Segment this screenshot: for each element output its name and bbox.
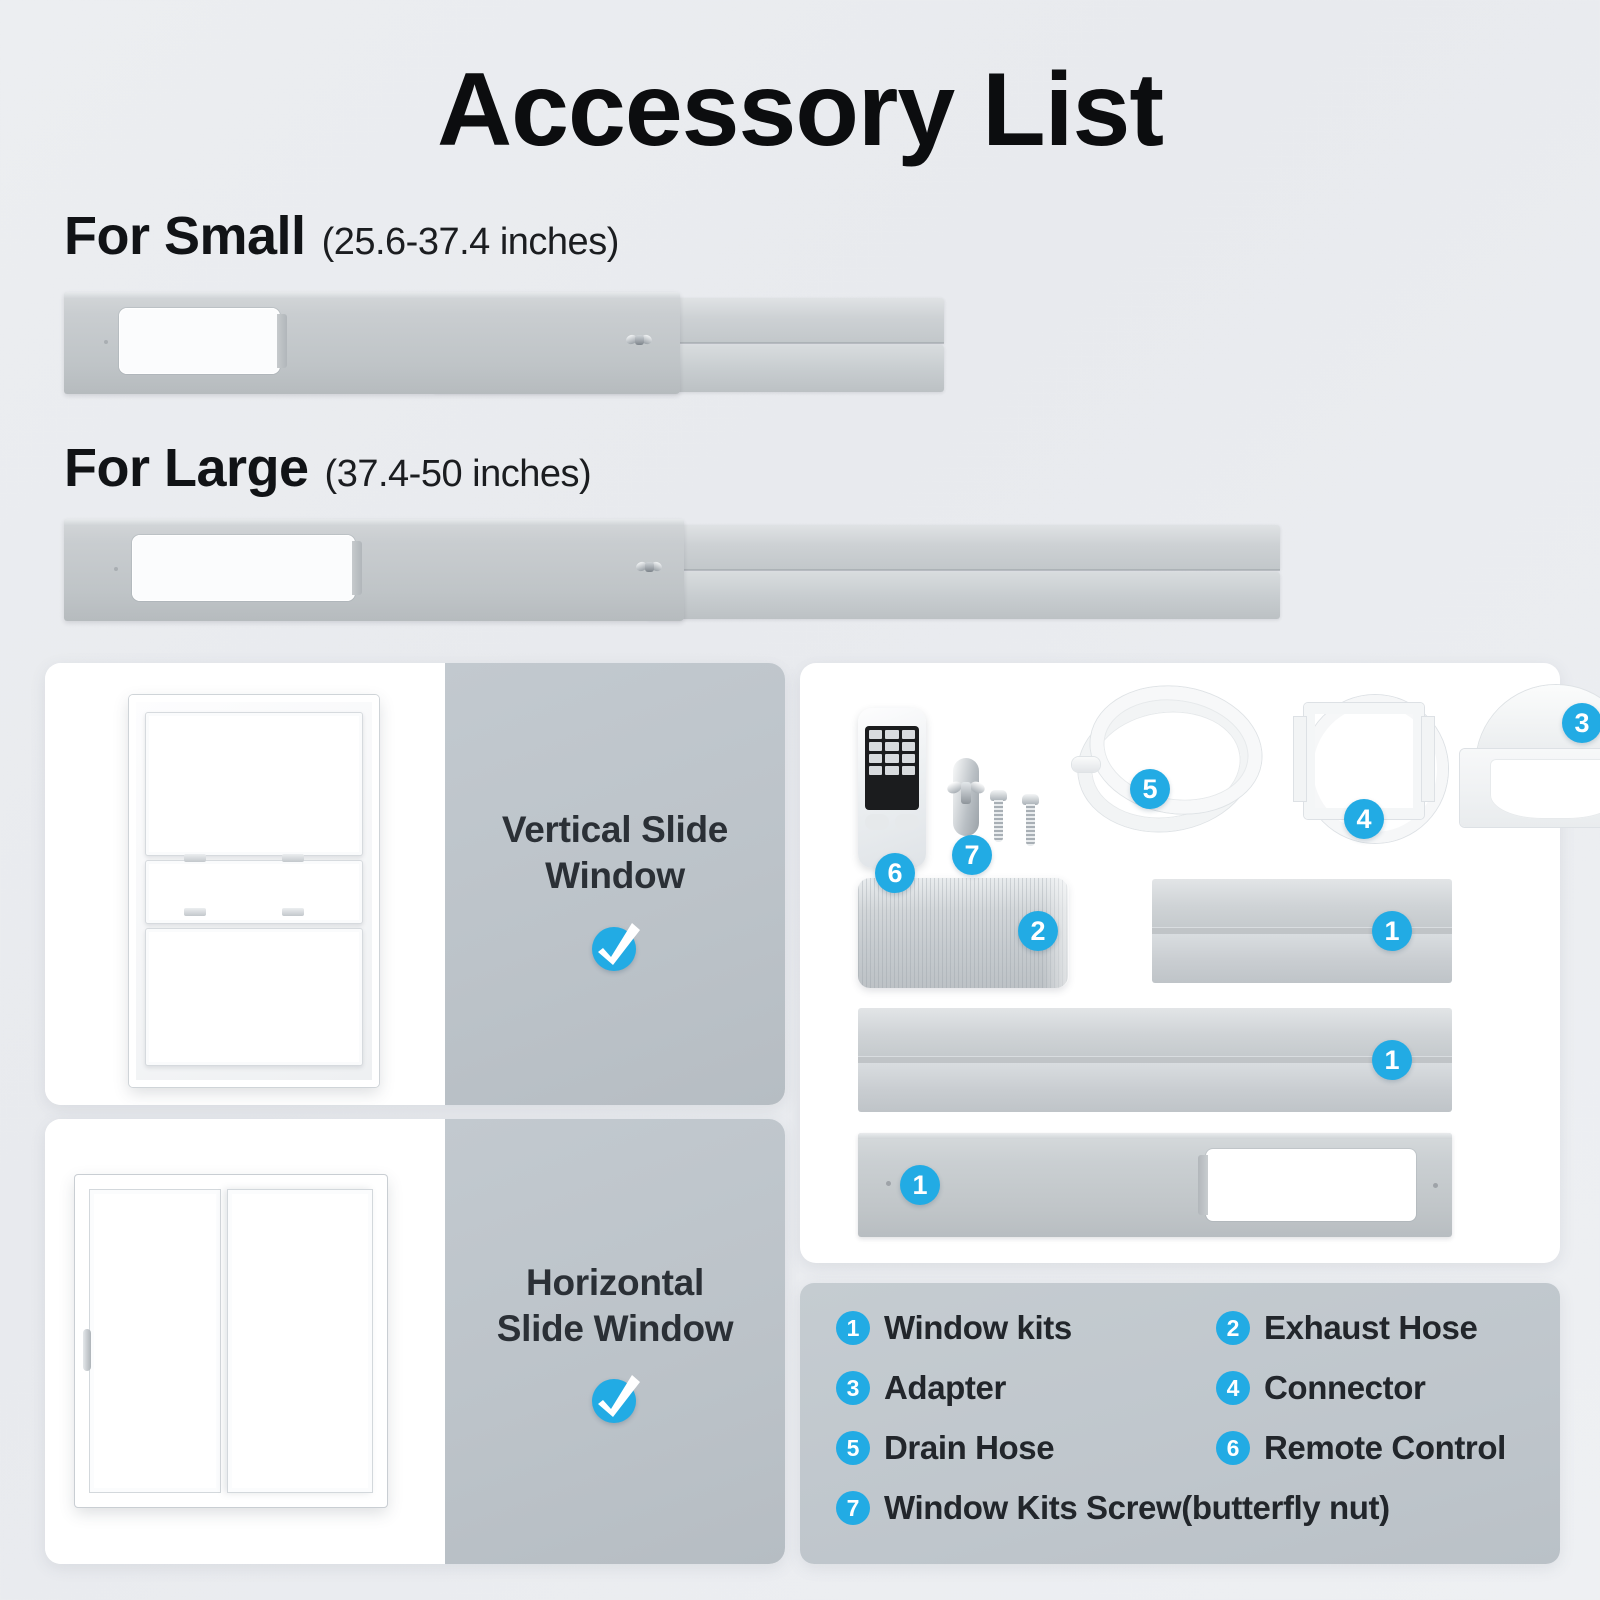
legend-badge: 4 (1216, 1371, 1250, 1405)
page-title: Accessory List (0, 56, 1600, 165)
window-lock-icon (282, 908, 304, 916)
kit-rail-lower (648, 572, 1280, 619)
callout-window-kits-screw: 7 (952, 835, 992, 875)
accessory-list-infographic: Accessory List For Small (25.6-37.4 inch… (0, 0, 1600, 1600)
butterfly-nut-icon (636, 557, 662, 579)
horizontal-window-label-panel: Horizontal Slide Window (445, 1119, 785, 1564)
kit-screw-dot (104, 340, 108, 344)
legend-item-adapter: 3 Adapter (800, 1369, 1180, 1407)
window-kit-bar-icon (858, 1008, 1452, 1112)
callout-exhaust-hose: 2 (1018, 911, 1058, 951)
section-label-small: For Small (64, 205, 306, 267)
window-pane-right (227, 1189, 373, 1493)
section-heading-large: For Large (37.4-50 inches) (64, 437, 591, 499)
caption-line-2: Window (545, 855, 685, 896)
kit-cutout (1206, 1149, 1416, 1221)
callout-window-kit-2: 1 (1372, 1040, 1412, 1080)
horizontal-window-icon (75, 1175, 387, 1507)
section-range-small: (25.6-37.4 inches) (322, 221, 619, 264)
section-label-large: For Large (64, 437, 309, 499)
window-sash-top (145, 712, 363, 856)
screw-icon (1022, 794, 1039, 846)
caption-line-1: Vertical Slide (502, 809, 728, 850)
vertical-window-icon (129, 695, 379, 1087)
window-kit-bar-cutout-icon (858, 1133, 1452, 1237)
vertical-window-illustration (45, 663, 445, 1105)
legend-row: 7 Window Kits Screw(butterfly nut) (800, 1489, 1560, 1527)
window-kit-bar-small (64, 292, 944, 394)
legend-item-window-kits: 1 Window kits (800, 1309, 1180, 1347)
callout-connector: 4 (1344, 799, 1384, 839)
card-horizontal-slide-window: Horizontal Slide Window (45, 1119, 785, 1564)
kit-front-panel (64, 519, 684, 621)
legend-label: Window kits (884, 1309, 1072, 1347)
kit-screw-dot (114, 567, 118, 571)
caption-line-1: Horizontal (526, 1262, 704, 1303)
window-sash-middle (145, 860, 363, 924)
check-icon (586, 1369, 644, 1423)
legend-badge: 3 (836, 1371, 870, 1405)
kit-front-panel (64, 292, 680, 394)
legend-row: 1 Window kits 2 Exhaust Hose (800, 1309, 1560, 1347)
window-lock-icon (184, 908, 206, 916)
kit-cutout (132, 535, 355, 601)
callout-drain-hose: 5 (1130, 769, 1170, 809)
callout-remote-control: 6 (875, 853, 915, 893)
callout-window-kit-1: 1 (1372, 911, 1412, 951)
legend-label: Connector (1264, 1369, 1425, 1407)
card-vertical-slide-window: Vertical Slide Window (45, 663, 785, 1105)
kit-rail-seam (648, 569, 1280, 571)
caption-line-2: Slide Window (497, 1308, 734, 1349)
legend-item-connector: 4 Connector (1180, 1369, 1560, 1407)
vertical-window-label-panel: Vertical Slide Window (445, 663, 785, 1105)
legend-badge: 6 (1216, 1431, 1250, 1465)
window-pane-left (89, 1189, 221, 1493)
legend-item-window-kits-screw: 7 Window Kits Screw(butterfly nut) (800, 1489, 1560, 1527)
legend-row: 5 Drain Hose 6 Remote Control (800, 1429, 1560, 1467)
remote-button-grid (865, 726, 919, 810)
horizontal-window-illustration (45, 1119, 445, 1564)
legend-row: 3 Adapter 4 Connector (800, 1369, 1560, 1407)
legend-label: Window Kits Screw(butterfly nut) (884, 1489, 1390, 1527)
window-sash-bottom (145, 928, 363, 1066)
kit-rail-upper (648, 525, 1280, 570)
butterfly-nut-icon (948, 758, 984, 836)
remote-control-icon (858, 708, 926, 868)
window-handle-icon (83, 1329, 91, 1371)
legend-badge: 2 (1216, 1311, 1250, 1345)
callout-window-kit-3: 1 (900, 1165, 940, 1205)
section-range-large: (37.4-50 inches) (325, 453, 592, 496)
accessories-panel: 6 7 5 4 3 2 (800, 663, 1560, 1263)
butterfly-nut-icon (626, 330, 652, 352)
callout-adapter: 3 (1562, 703, 1600, 743)
check-icon (586, 917, 644, 971)
legend-item-drain-hose: 5 Drain Hose (800, 1429, 1180, 1467)
legend-item-remote-control: 6 Remote Control (1180, 1429, 1560, 1467)
legend-label: Remote Control (1264, 1429, 1506, 1467)
legend-label: Drain Hose (884, 1429, 1054, 1467)
legend-badge: 7 (836, 1491, 870, 1525)
legend-label: Exhaust Hose (1264, 1309, 1477, 1347)
screw-icon (990, 790, 1007, 842)
remote-oval-buttons (865, 814, 919, 830)
window-kit-bar-large (64, 519, 1280, 621)
legend-badge: 1 (836, 1311, 870, 1345)
kit-cutout (119, 308, 279, 374)
window-lock-icon (282, 854, 304, 862)
legend-badge: 5 (836, 1431, 870, 1465)
legend-item-exhaust-hose: 2 Exhaust Hose (1180, 1309, 1560, 1347)
legend-panel: 1 Window kits 2 Exhaust Hose 3 Adapter 4… (800, 1283, 1560, 1564)
legend-label: Adapter (884, 1369, 1006, 1407)
window-lock-icon (184, 854, 206, 862)
section-heading-small: For Small (25.6-37.4 inches) (64, 205, 619, 267)
